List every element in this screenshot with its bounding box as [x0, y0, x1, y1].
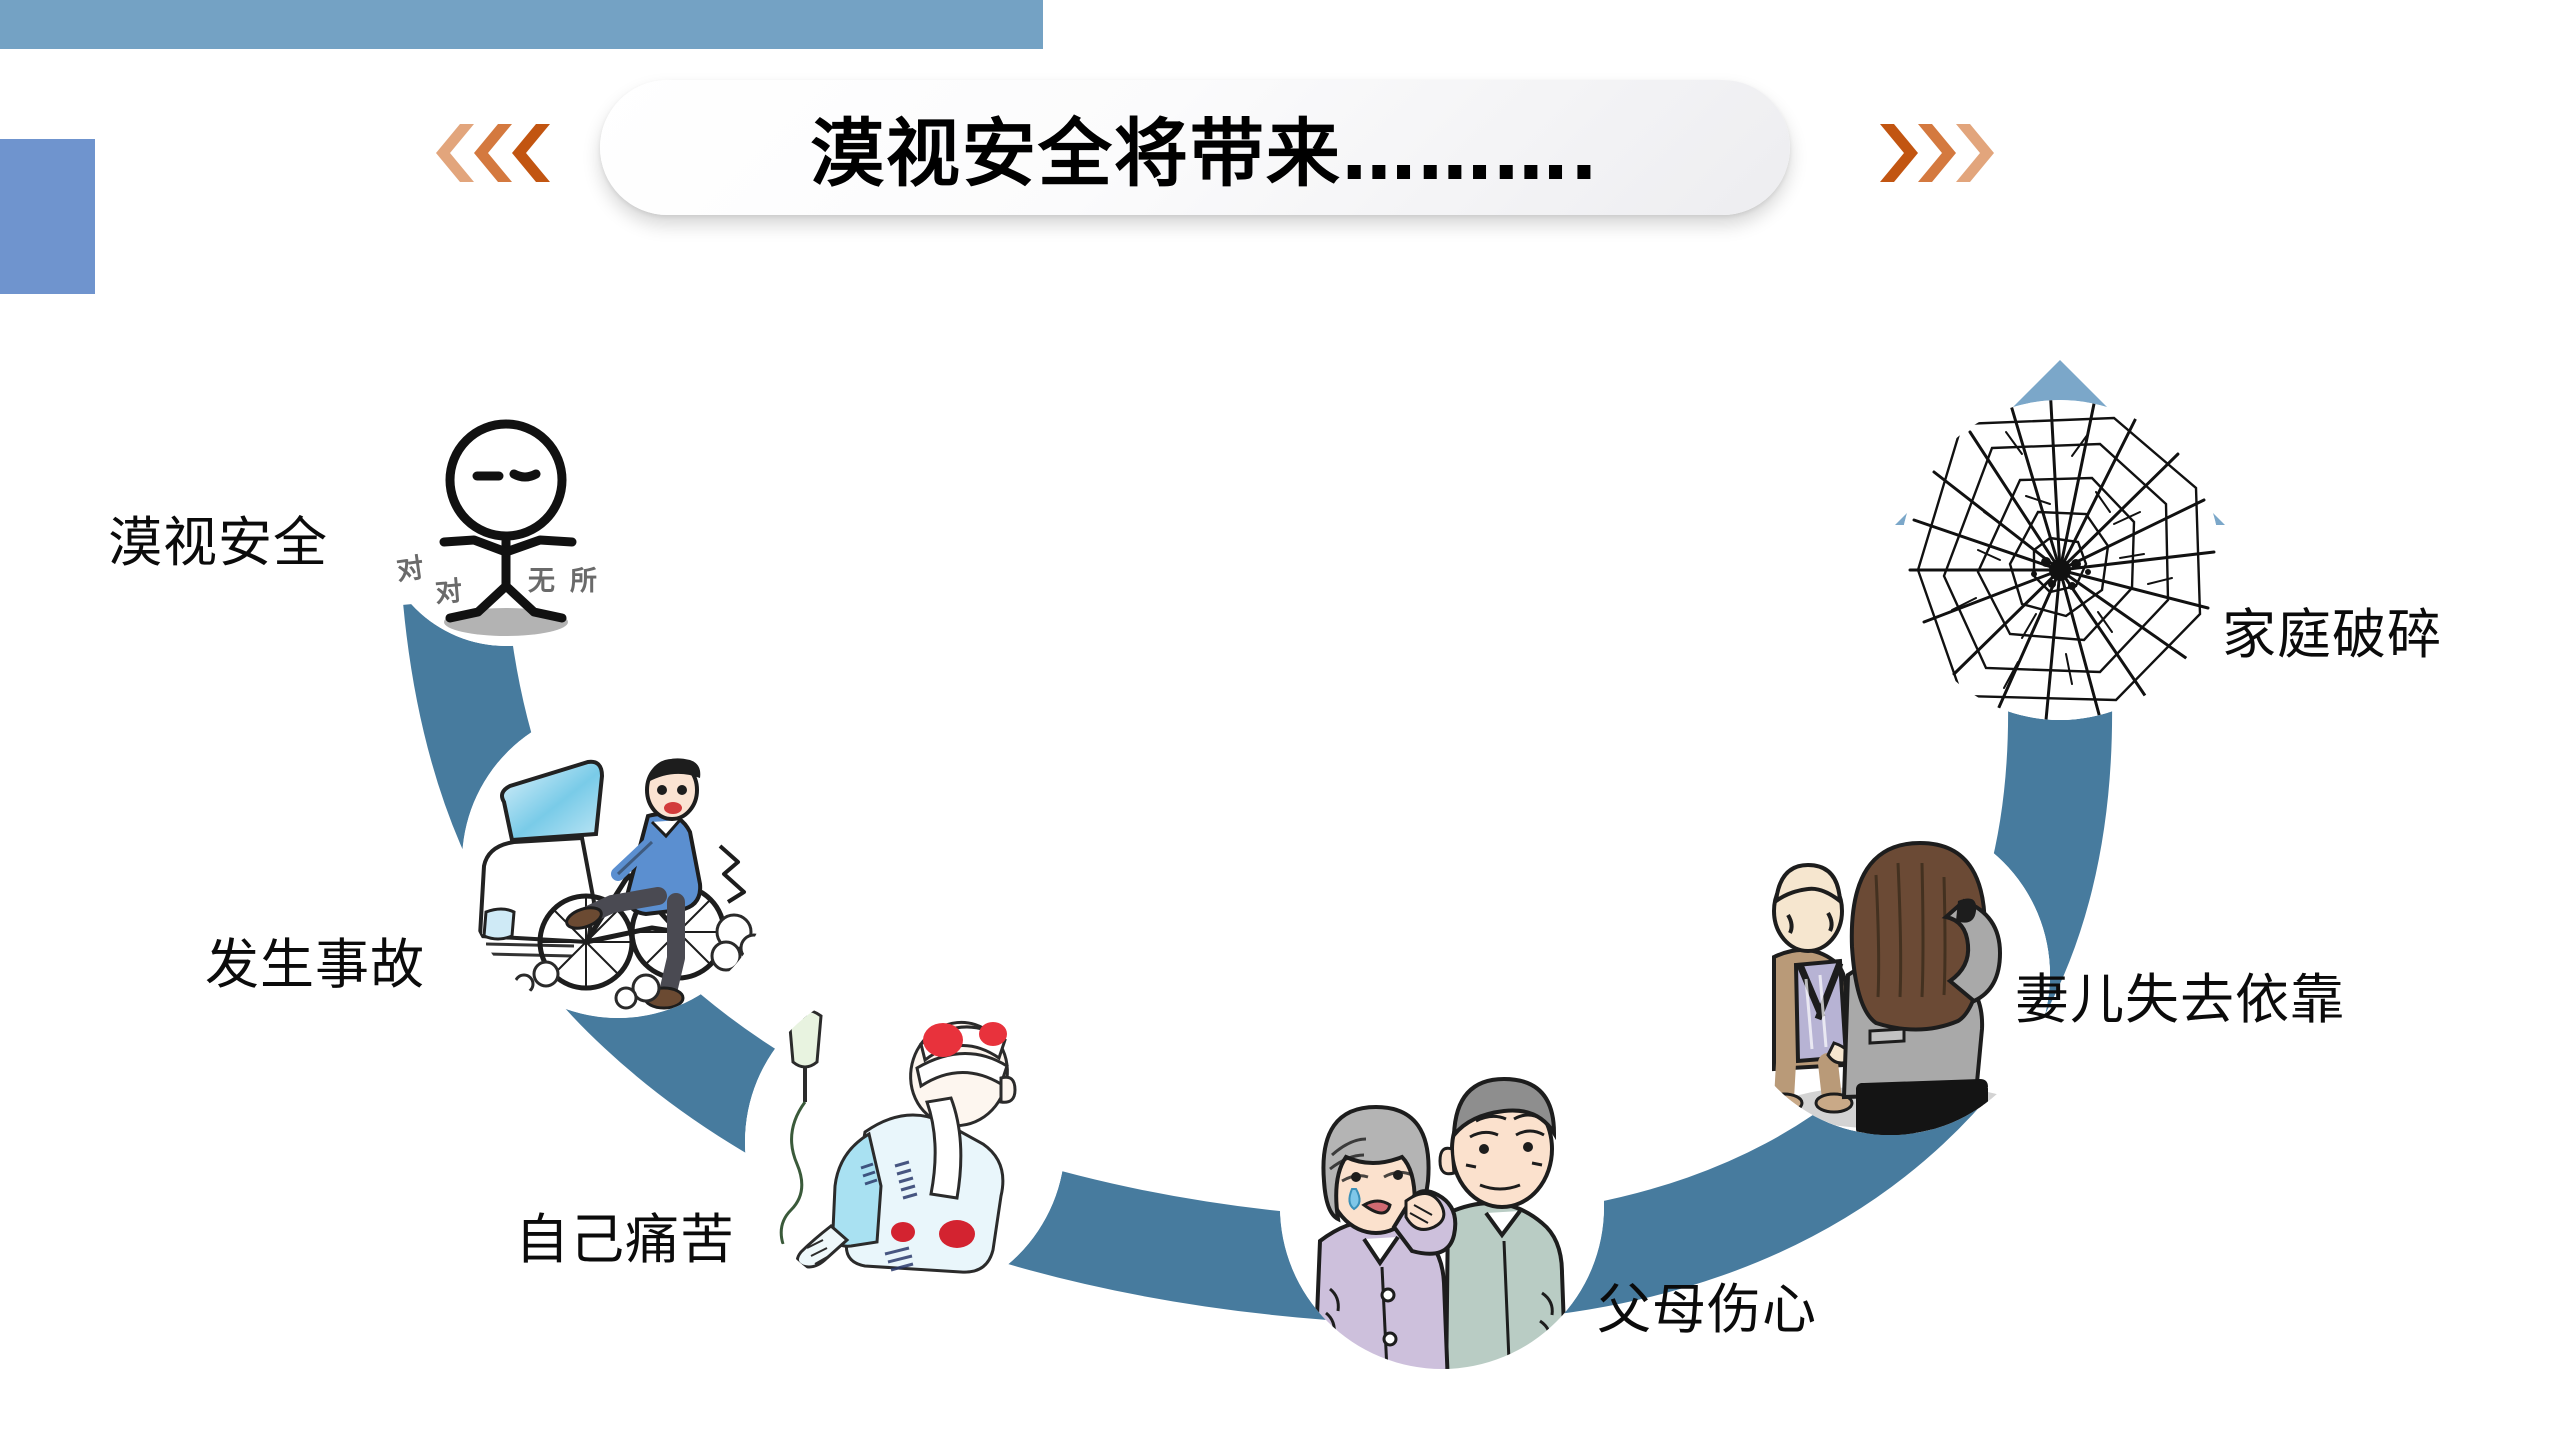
slide-canvas: 对 对 无 所 漠视安全: [0, 0, 2560, 1440]
svg-text:对: 对: [395, 552, 426, 586]
flow-label-dependents: 妻儿失去依靠: [2015, 955, 2345, 1034]
flow-label-accident: 发生事故: [205, 920, 425, 999]
svg-text:无: 无: [528, 566, 555, 597]
flow-label-broken-family: 家庭破碎: [2222, 590, 2442, 669]
flow-node-suffering[interactable]: [745, 982, 1065, 1302]
chevron-left-icon-3: [506, 124, 550, 182]
flow-node-parents[interactable]: [1280, 1045, 1604, 1369]
flow-label-indifference: 漠视安全: [108, 498, 328, 577]
flow-node-dependents[interactable]: [1730, 815, 2050, 1135]
svg-text:所: 所: [570, 566, 597, 597]
flow-node-broken-family[interactable]: [1900, 400, 2220, 720]
flow-node-indifference[interactable]: 对 对 无 所: [378, 390, 634, 646]
svg-text:对: 对: [434, 576, 464, 609]
flow-label-parents: 父母伤心: [1597, 1265, 1817, 1344]
page-title: 漠视安全将带来……….: [810, 94, 1600, 201]
chevron-right-icon-3: [1956, 124, 2000, 182]
triple-chevron-right: [1880, 124, 1994, 182]
flow-node-accident[interactable]: [462, 706, 774, 1018]
triple-chevron-left: [430, 124, 544, 182]
slide-title-pill: 漠视安全将带来……….: [600, 80, 1790, 215]
flow-label-suffering: 自己痛苦: [515, 1195, 735, 1274]
